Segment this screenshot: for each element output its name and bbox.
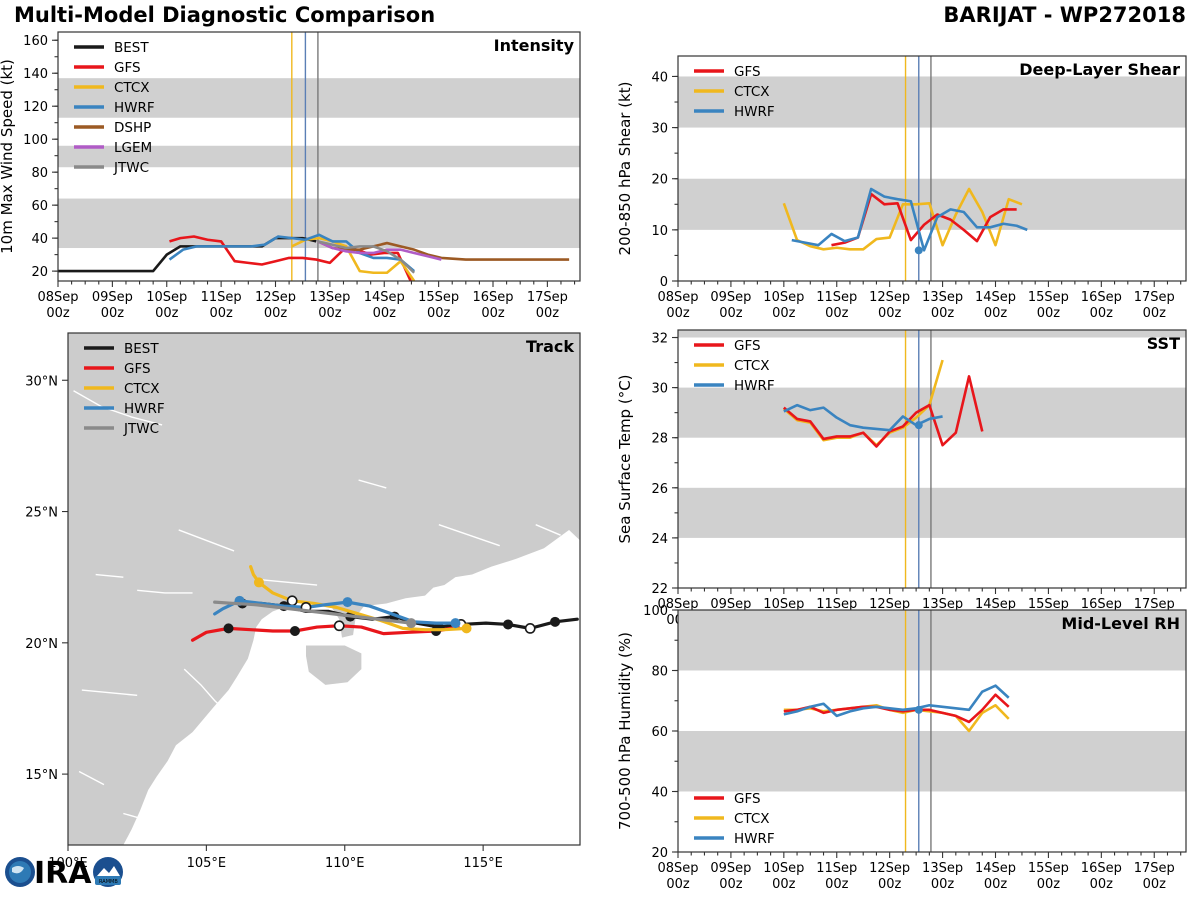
y-tick-label-40: 40 — [651, 786, 668, 801]
x-tick-sublabel-16Sep: 00z — [1090, 306, 1114, 321]
legend-label-CTCX: CTCX — [734, 84, 770, 100]
x-tick-sublabel-17Sep: 00z — [1143, 877, 1167, 892]
x-tick-label-17Sep: 17Sep — [527, 290, 568, 305]
x-tick-label-08Sep: 08Sep — [657, 861, 698, 876]
x-tick-sublabel-13Sep: 00z — [931, 306, 955, 321]
track-marker-open-CTCX — [288, 596, 297, 605]
legend-label-GFS: GFS — [124, 361, 151, 377]
legend-label-CTCX: CTCX — [114, 80, 150, 96]
x-tick-sublabel-09Sep: 00z — [719, 877, 743, 892]
x-tick-label-16Sep: 16Sep — [472, 290, 513, 305]
x-tick-sublabel-10Sep: 00z — [772, 877, 796, 892]
panel-title-sst: SST — [1147, 334, 1180, 353]
panel-title-track: Track — [526, 337, 574, 356]
marker-HWRF-init-marker — [915, 421, 923, 429]
x-tick-sublabel-12Sep: 00z — [264, 306, 288, 321]
panel-track: 100°E105°E110°E115°E15°N20°N25°N30°NTrac… — [25, 333, 580, 871]
track-marker-filled-GFS — [224, 623, 234, 633]
x-tick-label-13Sep: 13Sep — [922, 861, 963, 876]
panel-title-rh: Mid-Level RH — [1061, 614, 1180, 633]
panel-title-intensity: Intensity — [494, 36, 575, 55]
legend-label-GFS: GFS — [734, 338, 761, 354]
x-tick-label-09Sep: 09Sep — [92, 290, 133, 305]
legend-label-HWRF: HWRF — [734, 104, 775, 120]
x-tick-label-10Sep: 10Sep — [763, 861, 804, 876]
legend-label-HWRF: HWRF — [114, 100, 155, 116]
x-tick-label-13Sep: 13Sep — [922, 290, 963, 305]
y-tick-label-100: 100 — [643, 604, 668, 619]
page-title: Multi-Model Diagnostic Comparison — [14, 3, 435, 27]
x-tick-label-12Sep: 12Sep — [869, 861, 910, 876]
x-tick-label-10Sep: 10Sep — [146, 290, 187, 305]
y-tick-label-28: 28 — [651, 432, 668, 447]
x-tick-label-14Sep: 14Sep — [975, 290, 1016, 305]
track-marker-open-BEST — [526, 624, 535, 633]
x-tick-sublabel-10Sep: 00z — [772, 306, 796, 321]
x-tick-sublabel-15Sep: 00z — [1037, 306, 1061, 321]
legend-label-GFS: GFS — [734, 64, 761, 80]
track-marker-filled-CTCX — [254, 577, 264, 587]
x-tick-sublabel-12Sep: 00z — [878, 306, 902, 321]
y-tick-label-60: 60 — [31, 199, 48, 214]
x-tick-label-09Sep: 09Sep — [710, 861, 751, 876]
y-axis-title-intensity: 10m Max Wind Speed (kt) — [0, 59, 16, 254]
y-tick-label-22: 22 — [651, 582, 668, 597]
x-tick-label-17Sep: 17Sep — [1134, 290, 1175, 305]
track-marker-filled-BEST — [550, 617, 560, 627]
y-tick-label-10: 10 — [651, 224, 668, 239]
x-tick-label-10Sep: 10Sep — [763, 290, 804, 305]
x-tick-sublabel-17Sep: 00z — [1143, 306, 1167, 321]
marker-HWRF-init-marker — [915, 706, 923, 714]
track-marker-filled-CTCX — [462, 623, 472, 633]
legend-label-CTCX: CTCX — [734, 811, 770, 827]
x-tick-sublabel-15Sep: 00z — [427, 306, 451, 321]
legend-label-HWRF: HWRF — [734, 378, 775, 394]
x-tick-label-16Sep: 16Sep — [1081, 290, 1122, 305]
intensity-band-2 — [678, 330, 1186, 338]
map-x-label-1: 105°E — [187, 856, 227, 871]
legend-label-CTCX: CTCX — [734, 358, 770, 374]
panel-shear: 08Sep00z09Sep00z10Sep00z11Sep00z12Sep00z… — [616, 56, 1186, 321]
x-tick-label-16Sep: 16Sep — [1081, 861, 1122, 876]
x-tick-sublabel-11Sep: 00z — [825, 306, 849, 321]
y-tick-label-80: 80 — [31, 166, 48, 181]
y-tick-label-20: 20 — [31, 265, 48, 280]
x-tick-sublabel-14Sep: 00z — [984, 306, 1008, 321]
track-marker-filled-HWRF — [450, 618, 460, 628]
y-tick-label-32: 32 — [651, 332, 668, 347]
x-tick-label-12Sep: 12Sep — [869, 290, 910, 305]
legend-label-HWRF: HWRF — [124, 401, 165, 417]
y-tick-label-40: 40 — [651, 70, 668, 85]
x-tick-label-11Sep: 11Sep — [201, 290, 242, 305]
y-tick-label-80: 80 — [651, 665, 668, 680]
y-axis-title-shear: 200-850 hPa Shear (kt) — [616, 82, 634, 256]
cira-logo: IRA RAMMB — [5, 856, 123, 891]
y-tick-label-160: 160 — [23, 34, 48, 49]
x-tick-sublabel-12Sep: 00z — [878, 877, 902, 892]
y-tick-label-20: 20 — [651, 846, 668, 861]
panel-rh: 08Sep00z09Sep00z10Sep00z11Sep00z12Sep00z… — [616, 604, 1186, 892]
storm-title: BARIJAT - WP272018 — [943, 3, 1186, 27]
x-tick-sublabel-11Sep: 00z — [825, 877, 849, 892]
x-tick-sublabel-08Sep: 00z — [666, 306, 690, 321]
x-tick-label-08Sep: 08Sep — [657, 290, 698, 305]
track-marker-filled-GFS — [290, 626, 300, 636]
legend-label-CTCX: CTCX — [124, 381, 160, 397]
x-tick-sublabel-11Sep: 00z — [209, 306, 233, 321]
figure-svg: Multi-Model Diagnostic Comparison BARIJA… — [0, 0, 1200, 900]
x-tick-label-14Sep: 14Sep — [975, 861, 1016, 876]
x-tick-sublabel-10Sep: 00z — [155, 306, 179, 321]
svg-text:IRA: IRA — [34, 856, 92, 891]
y-tick-label-60: 60 — [651, 725, 668, 740]
y-tick-label-0: 0 — [660, 275, 668, 290]
y-tick-label-120: 120 — [23, 100, 48, 115]
x-tick-sublabel-13Sep: 00z — [318, 306, 342, 321]
map-y-label-3: 30°N — [25, 374, 58, 389]
x-tick-label-13Sep: 13Sep — [309, 290, 350, 305]
diagnostic-figure: Multi-Model Diagnostic Comparison BARIJA… — [0, 0, 1200, 900]
map-y-label-2: 25°N — [25, 506, 58, 521]
y-tick-label-20: 20 — [651, 173, 668, 188]
y-tick-label-26: 26 — [651, 482, 668, 497]
y-tick-label-40: 40 — [31, 232, 48, 247]
y-tick-label-30: 30 — [651, 382, 668, 397]
x-tick-sublabel-16Sep: 00z — [481, 306, 505, 321]
y-tick-label-24: 24 — [651, 532, 668, 547]
intensity-band-0 — [678, 488, 1186, 538]
x-tick-sublabel-13Sep: 00z — [931, 877, 955, 892]
panel-title-shear: Deep-Layer Shear — [1019, 60, 1180, 79]
x-tick-label-15Sep: 15Sep — [1028, 290, 1069, 305]
x-tick-sublabel-09Sep: 00z — [719, 306, 743, 321]
legend-label-BEST: BEST — [114, 40, 149, 56]
legend-label-JTWC: JTWC — [113, 160, 149, 176]
track-marker-filled-JTWC — [406, 618, 416, 628]
intensity-band-0 — [678, 731, 1186, 792]
legend-label-GFS: GFS — [114, 60, 141, 76]
x-tick-sublabel-17Sep: 00z — [536, 306, 560, 321]
x-tick-label-15Sep: 15Sep — [418, 290, 459, 305]
legend-label-BEST: BEST — [124, 341, 159, 357]
map-y-label-1: 20°N — [25, 637, 58, 652]
marker-HWRF-init-marker — [915, 246, 923, 254]
x-tick-label-09Sep: 09Sep — [710, 290, 751, 305]
legend-label-DSHP: DSHP — [114, 120, 151, 136]
intensity-band-0 — [678, 179, 1186, 230]
x-tick-sublabel-14Sep: 00z — [373, 306, 397, 321]
track-marker-open-GFS — [335, 621, 344, 630]
x-tick-label-11Sep: 11Sep — [816, 861, 857, 876]
x-tick-label-08Sep: 08Sep — [37, 290, 78, 305]
track-marker-filled-BEST — [503, 619, 513, 629]
map-y-label-0: 15°N — [25, 768, 58, 783]
legend-label-HWRF: HWRF — [734, 831, 775, 847]
x-tick-sublabel-08Sep: 00z — [666, 877, 690, 892]
x-tick-sublabel-08Sep: 00z — [46, 306, 70, 321]
y-tick-label-140: 140 — [23, 67, 48, 82]
panel-intensity: 08Sep00z09Sep00z10Sep00z11Sep00z12Sep00z… — [0, 32, 580, 321]
legend-label-JTWC: JTWC — [123, 421, 159, 437]
y-tick-label-30: 30 — [651, 122, 668, 137]
legend-label-GFS: GFS — [734, 791, 761, 807]
x-tick-sublabel-16Sep: 00z — [1090, 877, 1114, 892]
track-marker-filled-HWRF — [343, 597, 353, 607]
x-tick-label-12Sep: 12Sep — [255, 290, 296, 305]
map-x-label-3: 115°E — [463, 856, 503, 871]
x-tick-label-17Sep: 17Sep — [1134, 861, 1175, 876]
y-axis-title-rh: 700-500 hPa Humidity (%) — [616, 632, 634, 830]
x-tick-sublabel-15Sep: 00z — [1037, 877, 1061, 892]
svg-text:RAMMB: RAMMB — [99, 879, 118, 885]
x-tick-label-11Sep: 11Sep — [816, 290, 857, 305]
legend-label-LGEM: LGEM — [114, 140, 152, 156]
x-tick-label-15Sep: 15Sep — [1028, 861, 1069, 876]
x-tick-sublabel-09Sep: 00z — [101, 306, 125, 321]
x-tick-sublabel-14Sep: 00z — [984, 877, 1008, 892]
y-tick-label-100: 100 — [23, 133, 48, 148]
x-tick-label-14Sep: 14Sep — [364, 290, 405, 305]
map-x-label-2: 110°E — [325, 856, 365, 871]
panel-sst: 08Sep00z09Sep00z10Sep00z11Sep00z12Sep00z… — [616, 330, 1186, 628]
y-axis-title-sst: Sea Surface Temp (°C) — [616, 374, 634, 543]
